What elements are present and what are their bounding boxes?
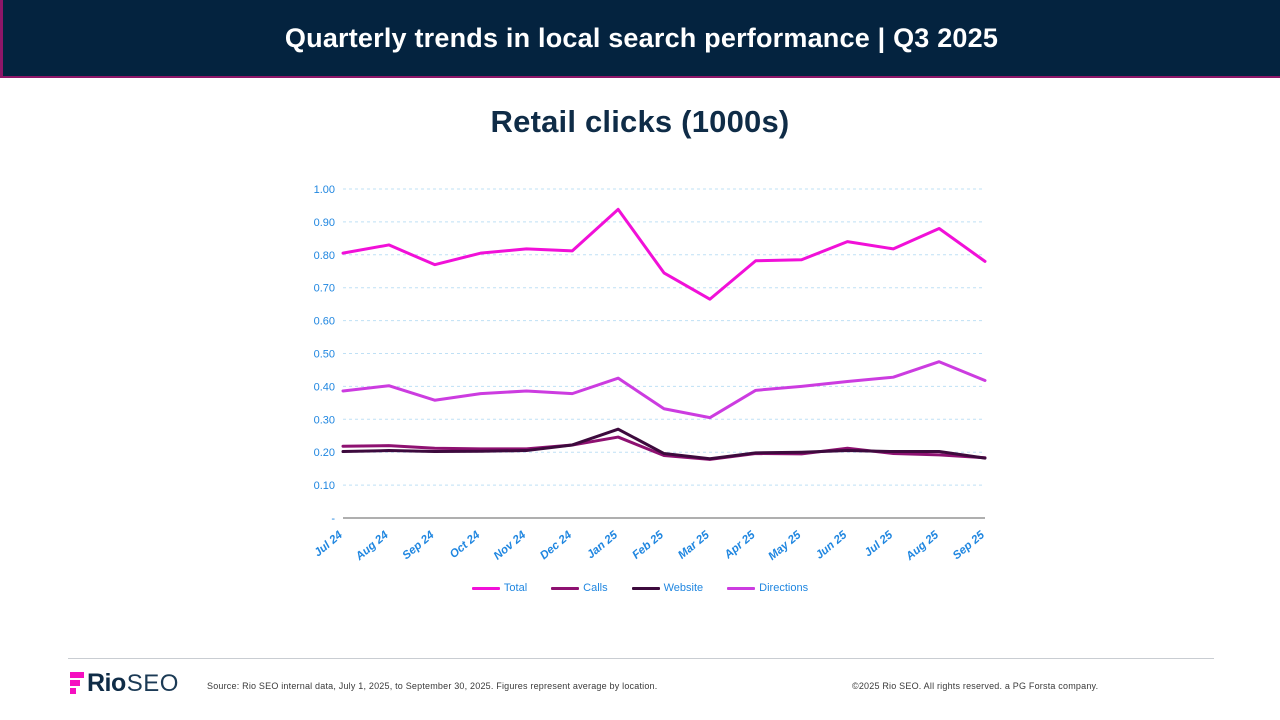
footer-source-note: Source: Rio SEO internal data, July 1, 2… — [207, 681, 657, 691]
x-axis-tick-label: Aug 24 — [353, 529, 391, 564]
x-axis-tick-label: Jul 24 — [312, 529, 345, 560]
y-axis-tick-label: 0.60 — [314, 316, 335, 328]
series-line-directions — [343, 362, 985, 418]
x-axis-tick-label: Jul 25 — [863, 529, 896, 560]
header-bar: Quarterly trends in local search perform… — [0, 0, 1280, 78]
x-axis-tick-label: Oct 24 — [448, 529, 483, 561]
legend-label: Calls — [583, 582, 607, 594]
x-axis-tick-label: Sep 25 — [951, 529, 988, 562]
x-axis-tick-label: Sep 24 — [401, 529, 438, 562]
x-axis-tick-label: Nov 24 — [492, 529, 529, 563]
legend-swatch-icon — [632, 587, 660, 590]
legend-item[interactable]: Total — [472, 582, 527, 594]
legend-swatch-icon — [551, 587, 579, 590]
series-line-calls — [343, 437, 985, 459]
y-axis-tick-label: 0.50 — [314, 349, 335, 361]
chart-canvas: -0.100.200.300.400.500.600.700.800.901.0… — [295, 176, 995, 606]
legend-label: Total — [504, 582, 527, 594]
legend-item[interactable]: Directions — [727, 582, 808, 594]
footer-copyright: ©2025 Rio SEO. All rights reserved. a PG… — [852, 681, 1098, 691]
y-axis-tick-label: 0.30 — [314, 414, 335, 426]
rio-seo-logo: Rio SEO — [70, 668, 179, 698]
y-axis-tick-label: 0.80 — [314, 250, 335, 262]
legend-swatch-icon — [472, 587, 500, 590]
rio-logo-mark-icon — [70, 672, 84, 694]
y-axis-tick-label: 0.40 — [314, 381, 335, 393]
y-axis-tick-label: 0.20 — [314, 447, 335, 459]
y-axis-tick-label: 0.10 — [314, 480, 335, 492]
x-axis-tick-label: Apr 25 — [722, 529, 758, 562]
chart-title: Retail clicks (1000s) — [0, 104, 1280, 140]
x-axis-tick-label: May 25 — [766, 529, 804, 563]
x-axis-tick-label: Dec 24 — [538, 529, 575, 562]
logo-text-rio: Rio — [87, 671, 126, 696]
x-axis-tick-label: Jan 25 — [585, 529, 621, 562]
y-axis-tick-label: - — [331, 513, 335, 525]
footer-divider — [68, 658, 1214, 659]
page-title: Quarterly trends in local search perform… — [285, 23, 998, 54]
legend-swatch-icon — [727, 587, 755, 590]
chart-legend: TotalCallsWebsiteDirections — [0, 582, 1280, 594]
y-axis-tick-label: 0.90 — [314, 217, 335, 229]
legend-item[interactable]: Website — [632, 582, 704, 594]
legend-label: Directions — [759, 582, 808, 594]
legend-label: Website — [664, 582, 704, 594]
x-axis-tick-label: Aug 25 — [903, 529, 941, 564]
y-axis-tick-label: 1.00 — [314, 184, 335, 196]
legend-item[interactable]: Calls — [551, 582, 607, 594]
line-chart: -0.100.200.300.400.500.600.700.800.901.0… — [295, 176, 995, 606]
y-axis-tick-label: 0.70 — [314, 283, 335, 295]
logo-text-seo: SEO — [127, 671, 179, 696]
x-axis-tick-label: Mar 25 — [676, 529, 712, 562]
x-axis-tick-label: Jun 25 — [814, 529, 850, 562]
x-axis-tick-label: Feb 25 — [630, 529, 666, 562]
